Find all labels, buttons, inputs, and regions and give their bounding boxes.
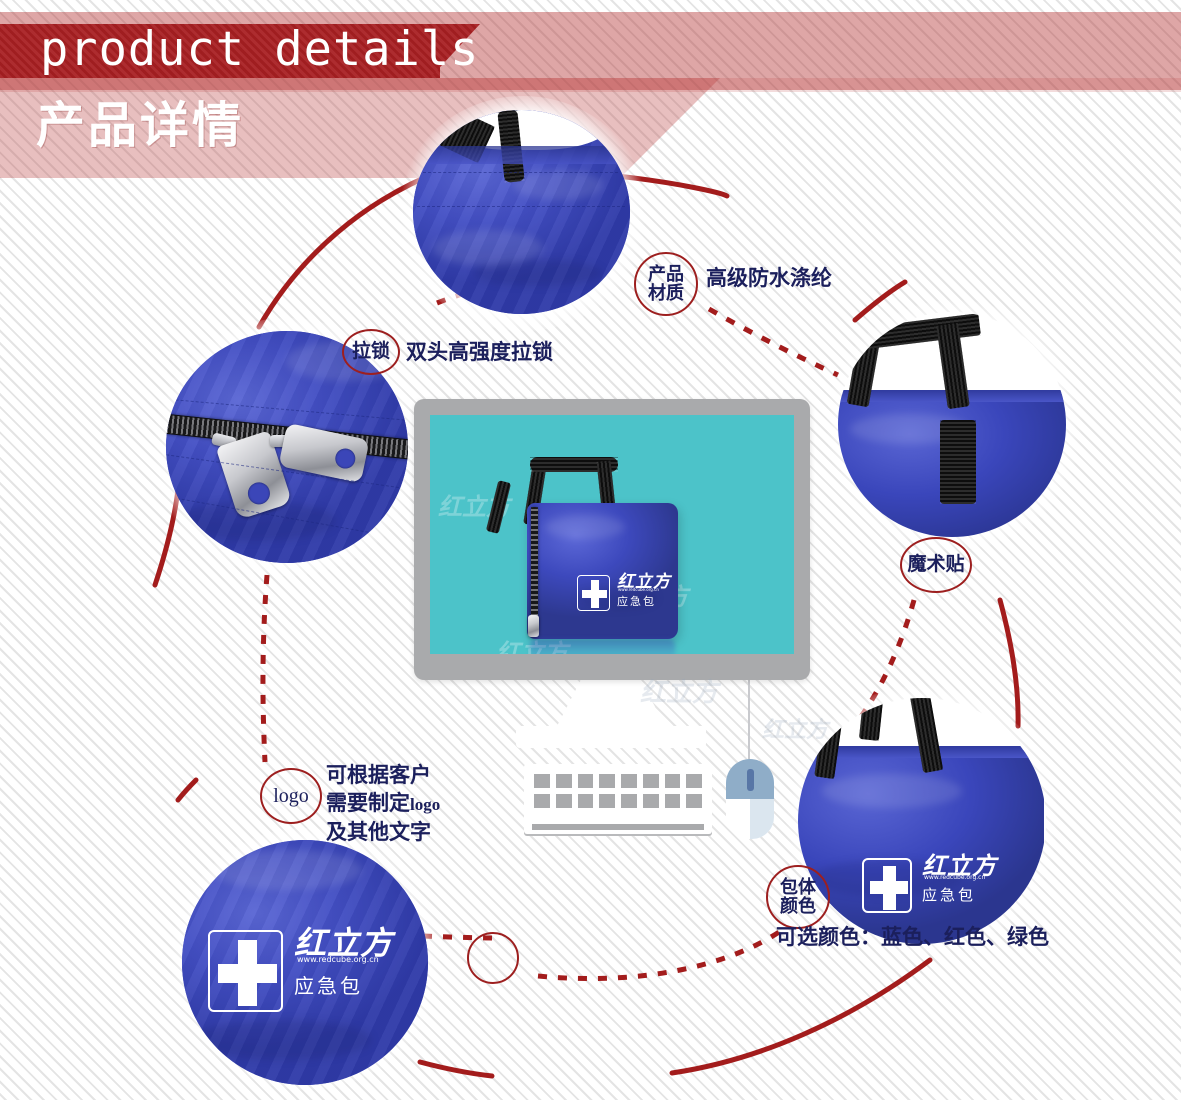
keyboard-key <box>621 774 637 788</box>
badge-body-color[interactable]: 包体颜色 <box>766 865 830 929</box>
brand-chinese: 应急包 <box>617 593 656 609</box>
monitor[interactable]: 红立方 红立方 红立方 <box>414 399 810 680</box>
arc-bottomright <box>672 960 930 1073</box>
mouse[interactable] <box>726 759 774 839</box>
zipper-teeth <box>531 507 538 631</box>
hero-handle-back <box>492 481 530 533</box>
caption-logo-line1: 可根据客户 <box>326 764 431 787</box>
watermark-text: 红立方 <box>640 672 718 709</box>
keyboard-key <box>643 794 659 808</box>
velcro-tab <box>940 420 976 504</box>
bag-top-edge <box>413 146 630 164</box>
medical-cross-icon <box>577 575 610 611</box>
fabric-wrinkle <box>212 850 362 890</box>
keyboard-key <box>578 774 594 788</box>
photo-material-closeup[interactable] <box>413 110 630 314</box>
fabric-wrinkle <box>513 170 603 200</box>
mouse-scroll-wheel <box>747 769 754 791</box>
keyboard-key <box>665 774 681 788</box>
caption-logo: 可根据客户 需要制定logo 及其他文字 <box>326 762 526 847</box>
badge-logo[interactable]: logo <box>260 768 322 824</box>
keyboard-key <box>578 794 594 808</box>
keyboard-key <box>599 774 615 788</box>
keyboard-key <box>621 794 637 808</box>
badge-velcro-label: 魔术贴 <box>907 555 964 575</box>
badge-velcro[interactable]: 魔术贴 <box>900 537 972 593</box>
caption-zipper: 双头高强度拉锁 <box>406 340 553 366</box>
fabric-wrinkle <box>473 260 603 286</box>
fabric-wrinkle <box>192 1020 372 1060</box>
photo-velcro-closeup[interactable] <box>838 312 1066 537</box>
arc-bottomleft <box>420 1062 492 1076</box>
stitch-line <box>417 206 625 207</box>
keyboard-key <box>686 774 702 788</box>
caption-material: 高级防水涤纶 <box>706 266 832 292</box>
brand-url: www.redcube.org.cn <box>297 955 379 964</box>
keyboard-key <box>665 794 681 808</box>
hero-bag-body: 红立方 www.redcube.org.cn 应急包 <box>527 503 678 639</box>
hero-zipper <box>531 507 538 631</box>
hero-zipper-puller <box>528 615 539 637</box>
medical-cross-icon <box>862 858 912 913</box>
fabric-wrinkle <box>822 774 962 808</box>
dash-zipper-to-logo <box>263 575 267 762</box>
medical-cross-icon <box>208 930 283 1012</box>
caption-body-color: 可选颜色：蓝色、红色、绿色 <box>776 925 1049 951</box>
cross-horizontal <box>218 964 277 983</box>
brand-url: www.redcube.org.cn <box>618 587 659 592</box>
keyboard-key <box>556 794 572 808</box>
zipper-puller-hole <box>245 480 273 508</box>
center-marker-circle <box>467 932 519 984</box>
keyboard-key <box>599 794 615 808</box>
badge-zipper[interactable]: 拉锁 <box>342 329 400 375</box>
badge-material-label: 产品材质 <box>648 265 684 303</box>
keyboard-key <box>686 794 702 808</box>
cross-horizontal <box>870 881 908 894</box>
badge-logo-label: logo <box>273 786 309 807</box>
dash-center-to-body <box>538 930 782 979</box>
caption-logo-line2: 需要制定 <box>326 792 410 815</box>
cross-horizontal <box>582 590 607 598</box>
photo-body-color-closeup[interactable]: 红立方 www.redcube.org.cn 应急包 <box>798 698 1046 944</box>
mouse-cord <box>748 679 750 761</box>
arc-lowerleft <box>178 780 196 800</box>
zipper-puller-hole <box>333 447 357 471</box>
brand-chinese: 应急包 <box>294 970 363 999</box>
keyboard[interactable] <box>524 764 712 834</box>
monitor-screen: 红立方 红立方 红立方 <box>430 415 794 654</box>
brand-chinese: 应急包 <box>922 884 976 905</box>
photo-logo-closeup[interactable]: 红立方 www.redcube.org.cn 应急包 <box>182 840 428 1085</box>
badge-zipper-label: 拉锁 <box>352 342 390 362</box>
badge-material[interactable]: 产品材质 <box>634 252 698 316</box>
monitor-chin <box>430 658 794 676</box>
keyboard-key <box>534 794 550 808</box>
bag-body <box>798 750 1044 944</box>
brand-url: www.redcube.org.cn <box>924 874 985 881</box>
keyboard-key <box>556 774 572 788</box>
mouse-lower-shell <box>750 799 774 839</box>
keyboard-key <box>534 774 550 788</box>
keyboard-keys <box>534 774 702 808</box>
keyboard-key <box>643 774 659 788</box>
fabric-wrinkle <box>545 515 625 539</box>
badge-body-color-label: 包体颜色 <box>780 878 816 916</box>
caption-logo-inline-latin: logo <box>410 795 440 814</box>
dash-material-to-velcro <box>709 309 838 375</box>
monitor-base <box>516 726 706 748</box>
stitch-line <box>423 172 618 173</box>
watermark-text: 红立方 <box>762 712 828 744</box>
hero-bag-reflection <box>530 639 675 654</box>
keyboard-spacebar <box>532 824 704 830</box>
product-details-page: product details 产品详情 <box>0 0 1181 1100</box>
caption-logo-line3: 及其他文字 <box>326 821 431 844</box>
